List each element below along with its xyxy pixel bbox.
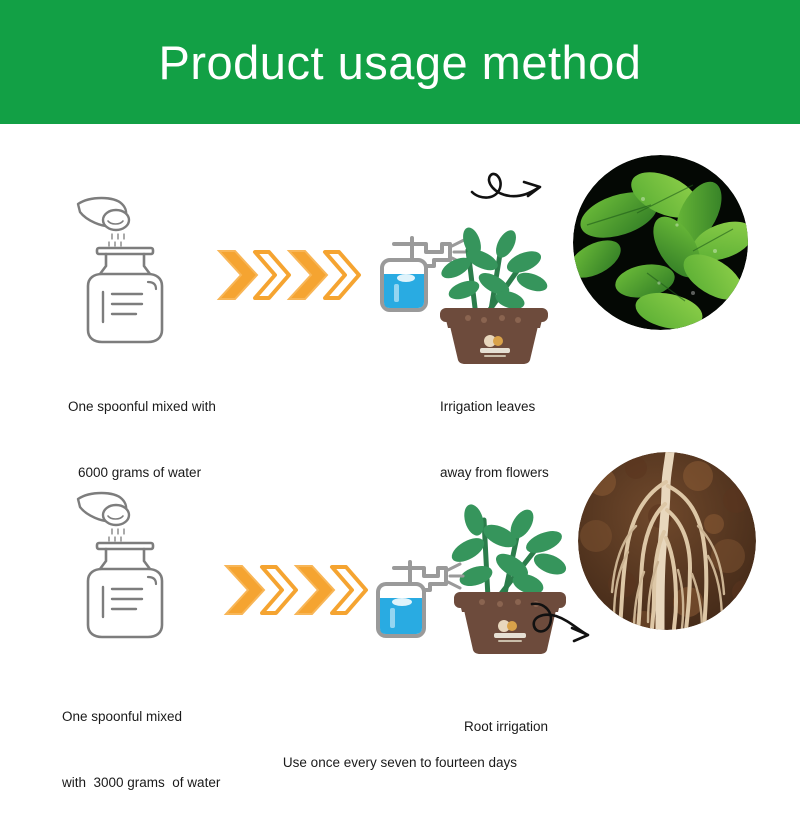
usage-step-row-2: One spoonful mixed with 3000 grams of wa… xyxy=(0,450,800,730)
process-arrows-row-2 xyxy=(222,560,372,620)
roots-in-soil-photo-icon xyxy=(578,452,756,630)
apply-caption-line-1: Root irrigation xyxy=(464,716,548,738)
chevron-right-arrows-icon xyxy=(215,245,365,305)
page-title: Product usage method xyxy=(159,39,642,86)
curly-arrow-row-1 xyxy=(466,160,566,215)
product-usage-infographic: Product usage method xyxy=(0,0,800,800)
apply-caption-line-1: Irrigation leaves xyxy=(440,396,549,418)
powder-bottle-with-spoon-icon xyxy=(70,190,210,350)
powder-bottle-icon-row-2 xyxy=(70,480,210,655)
usage-step-row-1: One spoonful mixed with 6000 grams of wa… xyxy=(0,140,800,410)
mix-caption-line-1: One spoonful mixed with xyxy=(68,396,216,418)
powder-bottle-with-spoon-icon xyxy=(70,480,210,650)
mix-caption-line-2: with 3000 grams of water xyxy=(62,772,220,794)
leaves-photo-circle-row-1 xyxy=(573,155,748,330)
leaves-photo-icon xyxy=(573,155,748,330)
mix-caption-line-1: One spoonful mixed xyxy=(62,706,220,728)
curly-arrow-right-icon xyxy=(466,160,566,210)
powder-bottle-icon-row-1 xyxy=(70,190,210,355)
roots-photo-circle-row-2 xyxy=(578,452,756,630)
page-header: Product usage method xyxy=(0,0,800,124)
spray-bottle-and-potted-plant-icon xyxy=(372,208,562,368)
process-arrows-row-1 xyxy=(215,245,365,305)
usage-frequency-note: Use once every seven to fourteen days xyxy=(0,755,800,770)
mix-caption-row-2: One spoonful mixed with 3000 grams of wa… xyxy=(62,662,220,838)
spray-and-plant-row-1 xyxy=(372,208,562,373)
chevron-right-arrows-icon xyxy=(222,560,372,620)
